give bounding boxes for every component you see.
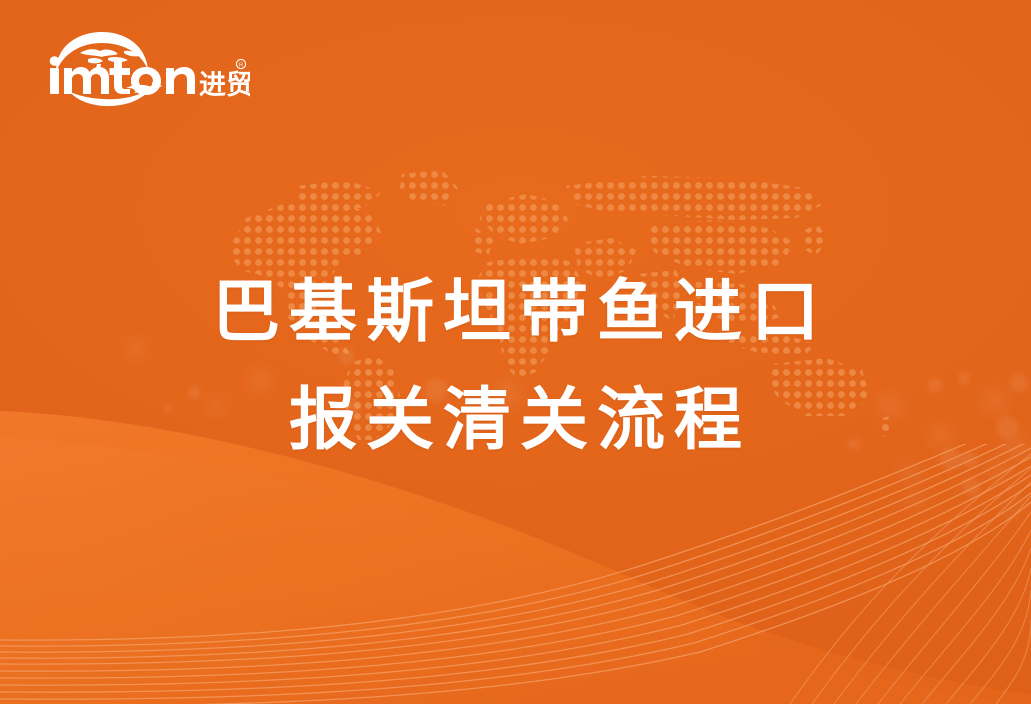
svg-text:进贸通: 进贸通 (199, 70, 250, 100)
title-line-1: 巴基斯坦带鱼进口 (0, 258, 1031, 366)
promo-banner: 进贸通 R 巴基斯坦带鱼进口 报关清关流程 (0, 0, 1031, 704)
page-title: 巴基斯坦带鱼进口 报关清关流程 (0, 258, 1031, 474)
logo-mark: 进贸通 R (40, 26, 250, 108)
svg-text:R: R (239, 63, 243, 69)
imton-logo[interactable]: 进贸通 R (40, 26, 250, 108)
title-line-2: 报关清关流程 (0, 366, 1031, 474)
